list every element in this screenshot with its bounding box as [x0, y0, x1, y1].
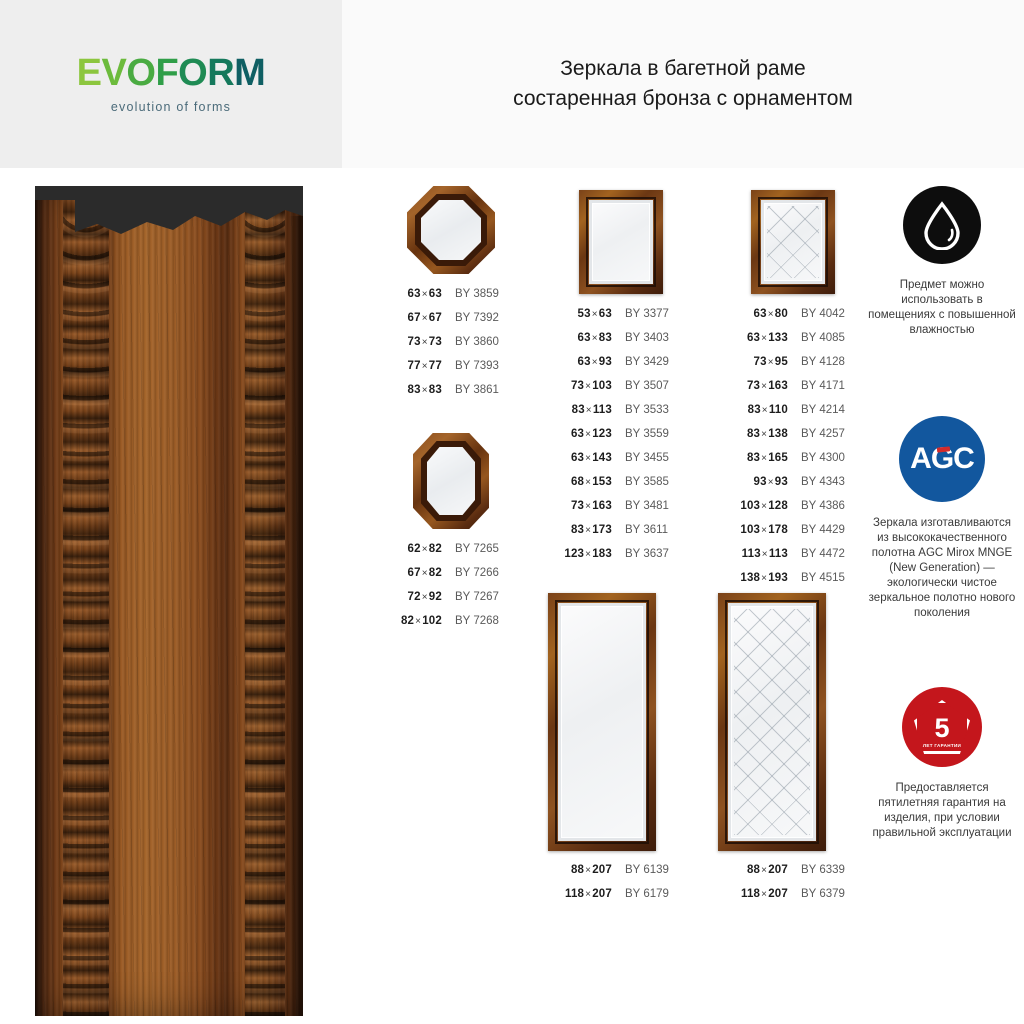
size-code: BY 7268	[442, 615, 499, 627]
size-dim: 77×77	[378, 360, 442, 372]
size-row[interactable]: 63×63BY 3859	[378, 288, 524, 312]
size-code: BY 6339	[788, 864, 845, 876]
size-dim: 88×207	[718, 864, 788, 876]
size-code: BY 6379	[788, 888, 845, 900]
size-dim: 118×207	[718, 888, 788, 900]
product-column-rect-gravure: 63×80BY 4042 63×133BY 4085 73×95BY 4128 …	[718, 186, 868, 596]
size-dim: 73×163	[718, 380, 788, 392]
product-thumb-rect-gravure[interactable]	[718, 186, 868, 294]
size-dim: 53×63	[548, 308, 612, 320]
size-dim: 73×95	[718, 356, 788, 368]
size-dim: 67×67	[378, 312, 442, 324]
size-list-floor-plain: 88×207BY 6139 118×207BY 6179	[548, 864, 669, 912]
size-code: BY 3403	[612, 332, 669, 344]
size-code: BY 3481	[612, 500, 669, 512]
mirror-octagon-vertical	[413, 433, 489, 529]
product-thumb-octagon-regular[interactable]	[378, 186, 524, 274]
badge-icon-wrap: 5 ЛЕТ ГАРАНТИИ	[866, 687, 1018, 767]
size-row[interactable]: 93×93BY 4343	[718, 476, 868, 500]
size-dim: 63×83	[548, 332, 612, 344]
size-code: BY 7392	[442, 312, 499, 324]
size-code: BY 7267	[442, 591, 499, 603]
size-dim: 68×153	[548, 476, 612, 488]
size-code: BY 4343	[788, 476, 845, 488]
size-list-octagon-regular: 63×63BY 3859 67×67BY 7392 73×73BY 3860 7…	[378, 288, 524, 408]
frame-ornament-right	[245, 186, 285, 1016]
size-dim: 83×165	[718, 452, 788, 464]
product-thumb-rect-plain[interactable]	[548, 186, 694, 294]
size-code: BY 3507	[612, 380, 669, 392]
size-code: BY 3559	[612, 428, 669, 440]
size-dim: 73×73	[378, 336, 442, 348]
size-row[interactable]: 83×113BY 3533	[548, 404, 694, 428]
size-dim: 88×207	[548, 864, 612, 876]
badge-text: Зеркала изготавливаются из высококачеств…	[866, 516, 1018, 621]
size-dim: 123×183	[548, 548, 612, 560]
size-dim: 73×163	[548, 500, 612, 512]
badge-icon-wrap: AGC	[866, 416, 1018, 502]
size-row[interactable]: 63×123BY 3559	[548, 428, 694, 452]
mirror-floor-plain	[548, 593, 656, 851]
size-code: BY 4128	[788, 356, 845, 368]
size-code: BY 3455	[612, 452, 669, 464]
size-dim: 73×103	[548, 380, 612, 392]
badge-agc-glass: AGC Зеркала изготавливаются из высококач…	[866, 416, 1018, 621]
size-code: BY 4429	[788, 524, 845, 536]
size-row[interactable]: 77×77BY 7393	[378, 360, 524, 384]
size-code: BY 3860	[442, 336, 499, 348]
size-code: BY 4171	[788, 380, 845, 392]
product-column-rect-plain: 53×63BY 3377 63×83BY 3403 63×93BY 3429 7…	[548, 186, 694, 572]
agc-logo-icon: AGC	[899, 416, 985, 502]
size-row[interactable]: 63×143BY 3455	[548, 452, 694, 476]
size-dim: 83×83	[378, 384, 442, 396]
size-code: BY 4214	[788, 404, 845, 416]
size-code: BY 6139	[612, 864, 669, 876]
size-dim: 83×173	[548, 524, 612, 536]
mirror-glass-gravure	[728, 603, 816, 841]
badge-icon-wrap	[866, 186, 1018, 264]
frame-ornament-left	[63, 186, 109, 1016]
page-title: Зеркала в багетной раме состаренная брон…	[513, 54, 853, 114]
size-dim: 103×128	[718, 500, 788, 512]
title-panel: Зеркала в багетной раме состаренная брон…	[342, 0, 1024, 168]
size-row[interactable]: 62×82BY 7265	[378, 543, 524, 567]
mirror-glass	[558, 603, 646, 841]
size-dim: 83×110	[718, 404, 788, 416]
size-row[interactable]: 118×207BY 6179	[548, 888, 669, 912]
size-row[interactable]: 83×83BY 3861	[378, 384, 524, 408]
size-row[interactable]: 83×138BY 4257	[718, 428, 868, 452]
size-dim: 83×138	[718, 428, 788, 440]
size-list-octagon-vertical: 62×82BY 7265 67×82BY 7266 72×92BY 7267 8…	[378, 543, 524, 639]
size-code: BY 3859	[442, 288, 499, 300]
size-code: BY 4042	[788, 308, 845, 320]
frame-shadow-left	[35, 200, 45, 1016]
size-list-rect-gravure: 63×80BY 4042 63×133BY 4085 73×95BY 4128 …	[718, 308, 868, 596]
logo-tagline: evolution of forms	[111, 100, 231, 114]
size-dim: 83×113	[548, 404, 612, 416]
size-row[interactable]: 118×207BY 6379	[718, 888, 845, 912]
size-row[interactable]: 72×92BY 7267	[378, 591, 524, 615]
product-thumb-octagon-vertical[interactable]	[378, 433, 524, 529]
catalog-page: EVOFORM evolution of forms Зеркала в баг…	[0, 0, 1024, 1024]
size-list-rect-plain: 53×63BY 3377 63×83BY 3403 63×93BY 3429 7…	[548, 308, 694, 572]
size-code: BY 3585	[612, 476, 669, 488]
evoform-logo: EVOFORM	[77, 54, 266, 92]
mirror-floor-gravure	[718, 593, 826, 851]
frame-shadow-right	[289, 216, 303, 1016]
warranty-caption: ЛЕТ ГАРАНТИИ	[917, 743, 967, 748]
size-row[interactable]: 73×73BY 3860	[378, 336, 524, 360]
size-dim: 118×207	[548, 888, 612, 900]
size-code: BY 4515	[788, 572, 845, 584]
size-code: BY 3429	[612, 356, 669, 368]
size-code: BY 4386	[788, 500, 845, 512]
mirror-octagon-regular	[407, 186, 495, 274]
size-row[interactable]: 73×95BY 4128	[718, 356, 868, 380]
size-row[interactable]: 68×153BY 3585	[548, 476, 694, 500]
size-row[interactable]: 103×128BY 4386	[718, 500, 868, 524]
water-drop-icon	[903, 186, 981, 264]
size-row[interactable]: 88×207BY 6339	[718, 864, 845, 888]
size-dim: 63×63	[378, 288, 442, 300]
size-dim: 93×93	[718, 476, 788, 488]
mirror-rect-plain	[579, 190, 663, 294]
size-row[interactable]: 63×133BY 4085	[718, 332, 868, 356]
size-code: BY 4257	[788, 428, 845, 440]
size-code: BY 3637	[612, 548, 669, 560]
size-row[interactable]: 113×113BY 4472	[718, 548, 868, 572]
mirror-glass	[421, 200, 481, 260]
warranty-number: 5	[934, 715, 949, 742]
info-badges-column: Предмет можно использовать в помещениях …	[866, 186, 1018, 841]
badge-moisture-resistant: Предмет можно использовать в помещениях …	[866, 186, 1018, 338]
size-dim: 63×123	[548, 428, 612, 440]
size-code: BY 7266	[442, 567, 499, 579]
badge-text: Предмет можно использовать в помещениях …	[866, 278, 1018, 338]
size-dim: 63×93	[548, 356, 612, 368]
size-row[interactable]: 123×183BY 3637	[548, 548, 694, 572]
size-code: BY 7393	[442, 360, 499, 372]
size-list-floor-gravure: 88×207BY 6339 118×207BY 6379	[718, 864, 845, 912]
size-code: BY 4300	[788, 452, 845, 464]
badge-warranty: 5 ЛЕТ ГАРАНТИИ Предоставляется пятилетня…	[866, 687, 1018, 841]
warranty-pentagon: 5 ЛЕТ ГАРАНТИИ	[914, 700, 970, 754]
product-column-octagon: 63×63BY 3859 67×67BY 7392 73×73BY 3860 7…	[378, 186, 524, 639]
size-row[interactable]: 83×165BY 4300	[718, 452, 868, 476]
size-row[interactable]: 73×163BY 4171	[718, 380, 868, 404]
size-row[interactable]: 83×173BY 3611	[548, 524, 694, 548]
size-dim: 113×113	[718, 548, 788, 560]
size-row[interactable]: 63×93BY 3429	[548, 356, 694, 380]
size-code: BY 7265	[442, 543, 499, 555]
size-code: BY 6179	[612, 888, 669, 900]
size-code: BY 4472	[788, 548, 845, 560]
size-row[interactable]: 103×178BY 4429	[718, 524, 868, 548]
mirror-glass-gravure	[761, 200, 825, 284]
logo-panel: EVOFORM evolution of forms	[0, 0, 342, 168]
size-dim: 103×178	[718, 524, 788, 536]
size-code: BY 3377	[612, 308, 669, 320]
size-code: BY 4085	[788, 332, 845, 344]
warranty-5-years-icon: 5 ЛЕТ ГАРАНТИИ	[902, 687, 982, 767]
product-floor-mirror-gravure[interactable]: 88×207BY 6339 118×207BY 6379	[718, 593, 845, 912]
size-dim: 82×102	[378, 615, 442, 627]
size-dim: 138×193	[718, 572, 788, 584]
frame-moulding-sample	[35, 186, 303, 1016]
size-row[interactable]: 63×83BY 3403	[548, 332, 694, 356]
page-header: EVOFORM evolution of forms Зеркала в баг…	[0, 0, 1024, 168]
title-line-1: Зеркала в багетной раме	[513, 54, 853, 84]
size-dim: 63×143	[548, 452, 612, 464]
title-line-2: состаренная бронза с орнаментом	[513, 84, 853, 114]
size-row[interactable]: 83×110BY 4214	[718, 404, 868, 428]
size-dim: 63×80	[718, 308, 788, 320]
size-dim: 62×82	[378, 543, 442, 555]
size-code: BY 3533	[612, 404, 669, 416]
size-code: BY 3611	[612, 524, 668, 536]
size-dim: 63×133	[718, 332, 788, 344]
size-dim: 67×82	[378, 567, 442, 579]
mirror-glass	[427, 447, 475, 515]
size-dim: 72×92	[378, 591, 442, 603]
mirror-glass	[589, 200, 653, 284]
product-floor-mirror-plain[interactable]: 88×207BY 6139 118×207BY 6179	[548, 593, 669, 912]
size-row[interactable]: 63×80BY 4042	[718, 308, 868, 332]
size-row[interactable]: 88×207BY 6139	[548, 864, 669, 888]
size-row[interactable]: 73×163BY 3481	[548, 500, 694, 524]
size-row[interactable]: 67×82BY 7266	[378, 567, 524, 591]
size-row[interactable]: 73×103BY 3507	[548, 380, 694, 404]
size-row[interactable]: 82×102BY 7268	[378, 615, 524, 639]
badge-text: Предоставляется пятилетняя гарантия на и…	[866, 781, 1018, 841]
size-code: BY 3861	[442, 384, 499, 396]
size-row[interactable]: 67×67BY 7392	[378, 312, 524, 336]
size-row[interactable]: 53×63BY 3377	[548, 308, 694, 332]
mirror-rect-gravure	[751, 190, 835, 294]
